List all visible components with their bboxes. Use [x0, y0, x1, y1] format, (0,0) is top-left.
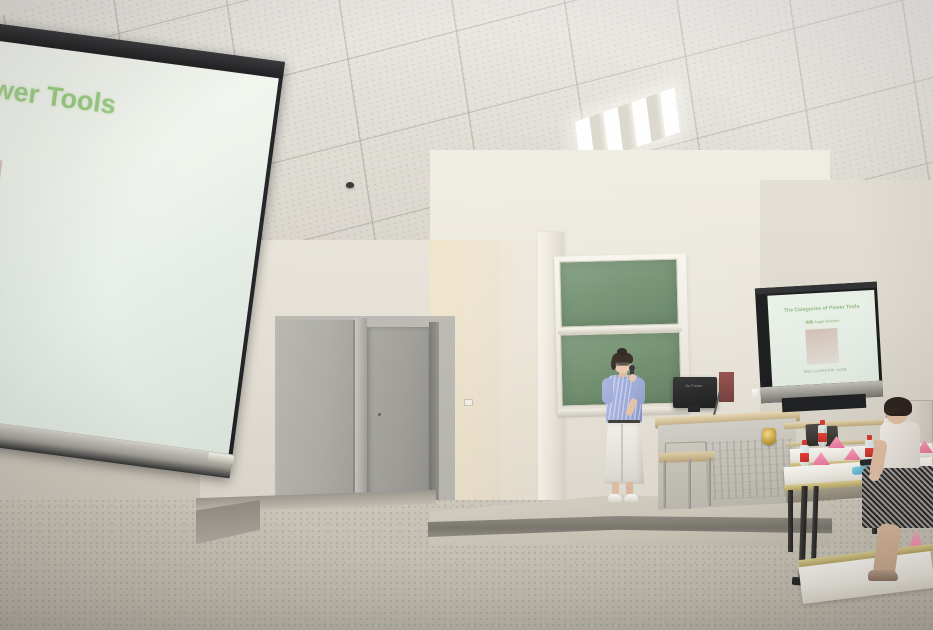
- secondary-projection-screen[interactable]: The Categories of Power Tools 角磨 Angle G…: [755, 282, 883, 404]
- audience-member: [860, 400, 933, 615]
- water-bottle[interactable]: [818, 420, 827, 446]
- presenter-shoe-left: [608, 494, 622, 502]
- presenter-trousers: [603, 422, 645, 484]
- screen-surface: egories of Power Tools 磨 Angle Grinder ，…: [0, 26, 279, 454]
- secondary-screen-surface: The Categories of Power Tools 角磨 Angle G…: [767, 290, 879, 387]
- podium-vent-texture: [705, 438, 795, 500]
- side-table-leg: [688, 459, 691, 509]
- lecture-hall-photo: 欢迎光临 Jiu Power: [0, 0, 933, 630]
- bottle-cap-icon: [802, 440, 807, 445]
- secondary-slide-title: The Categories of Power Tools: [774, 303, 868, 314]
- glasses-icon: [886, 409, 901, 413]
- door-knob-icon[interactable]: [378, 413, 381, 416]
- presenter-shoe-right: [624, 494, 638, 502]
- trouser-fold: [621, 424, 623, 482]
- side-table-leg: [708, 458, 711, 506]
- slide-product-photo: [0, 135, 2, 288]
- side-table-leg: [663, 460, 666, 508]
- side-table-top: [659, 451, 715, 463]
- bottle-label: [800, 453, 809, 462]
- slide-content: egories of Power Tools 磨 Angle Grinder ，…: [0, 26, 279, 454]
- smoke-detector-icon: [346, 182, 354, 188]
- presenter-belt: [608, 420, 640, 423]
- presenter-hand: [629, 374, 636, 382]
- secondary-slide-photo: [806, 328, 840, 364]
- secondary-slide-footer: 德国FLEX发明世界第一台角磨: [778, 365, 872, 375]
- red-panel-behind-podium: [719, 372, 734, 402]
- bottle-label: [818, 433, 827, 442]
- audience-member-shoe: [868, 570, 898, 581]
- audience-member-hair: [884, 397, 912, 416]
- bottle-cap-icon: [820, 420, 825, 425]
- light-switch-plate[interactable]: [464, 399, 473, 406]
- podium-monitor[interactable]: Jiu Power: [673, 377, 717, 408]
- presenter: [600, 350, 654, 508]
- slide-bullet: ，德国FLEX发明世界第一台角磨: [0, 286, 28, 333]
- presenter-hair-bun: [617, 348, 627, 356]
- water-bottle[interactable]: [800, 440, 809, 466]
- table-leg: [788, 490, 793, 552]
- presenter-sleeve-left: [602, 378, 613, 404]
- secondary-slide-subtitle: 角磨 Angle Grinder: [775, 317, 869, 327]
- glasses-icon: [615, 362, 630, 366]
- foreground-floor: [0, 546, 933, 630]
- audience-member-hand: [869, 472, 880, 481]
- slide-bullet-list: ，德国FLEX发明世界第一台角磨 年完成对百年品牌FLEX的收购: [0, 286, 28, 365]
- monitor-stand: [688, 406, 700, 412]
- microphone-head-icon: [629, 365, 635, 371]
- chalkboard-upper-panel[interactable]: [559, 259, 679, 328]
- podium-monitor-label: Jiu Power: [685, 383, 703, 388]
- gold-emblem-icon: [762, 428, 776, 445]
